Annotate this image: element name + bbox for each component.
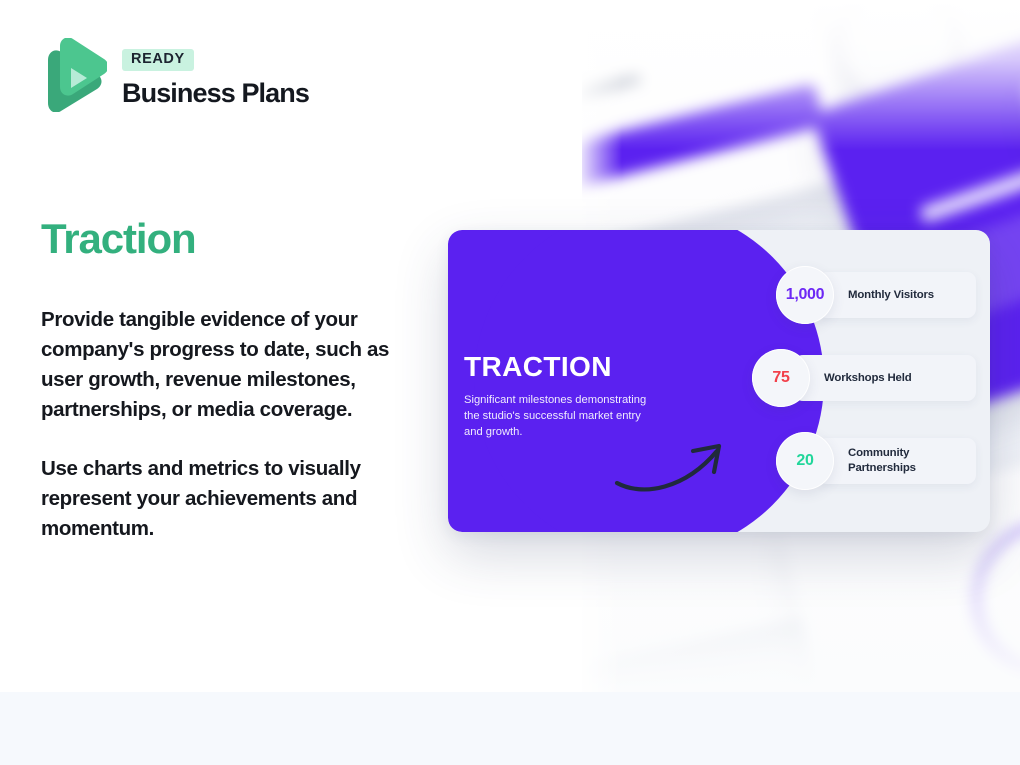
metric-label: Monthly Visitors	[848, 288, 934, 303]
collage-fade-top	[582, 0, 1020, 150]
slide-subtitle: Significant milestones demonstrating the…	[464, 393, 660, 441]
bottom-band	[0, 691, 1020, 765]
metric-label: Community Partnerships	[848, 446, 966, 475]
slide-preview-stage: READY Business Plans Traction Provide ta…	[0, 0, 1020, 765]
brand-text-block: READY Business Plans	[122, 38, 309, 107]
metric-label: Workshops Held	[824, 371, 912, 386]
metric-pill: Workshops Held	[794, 355, 976, 401]
metric-pill: Community Partnerships	[818, 438, 976, 484]
metric-row-community-partnerships[interactable]: 20 Community Partnerships	[776, 432, 976, 490]
page-description: Provide tangible evidence of your compan…	[41, 305, 436, 544]
paragraph-1: Provide tangible evidence of your compan…	[41, 305, 436, 426]
slide-title: TRACTION	[464, 353, 612, 381]
play-triangle-logo-icon	[41, 38, 107, 112]
traction-slide-card[interactable]: TRACTION Significant milestones demonstr…	[448, 230, 990, 532]
ready-badge: READY	[122, 49, 194, 71]
metric-row-workshops-held[interactable]: 75 Workshops Held	[752, 349, 976, 407]
metric-circle: 75	[752, 349, 810, 407]
metric-value: 20	[796, 453, 813, 469]
metrics-list: 1,000 Monthly Visitors 75 Workshops Held…	[776, 266, 976, 490]
paragraph-2: Use charts and metrics to visually repre…	[41, 454, 436, 544]
metric-circle: 20	[776, 432, 834, 490]
brand-title: Business Plans	[122, 79, 309, 107]
brand-lockup: READY Business Plans	[41, 38, 309, 112]
metric-pill: Monthly Visitors	[818, 272, 976, 318]
page-title: Traction	[41, 218, 196, 260]
metric-value: 1,000	[786, 287, 825, 303]
metric-value: 75	[772, 370, 789, 386]
metric-circle: 1,000	[776, 266, 834, 324]
metric-row-monthly-visitors[interactable]: 1,000 Monthly Visitors	[776, 266, 976, 324]
